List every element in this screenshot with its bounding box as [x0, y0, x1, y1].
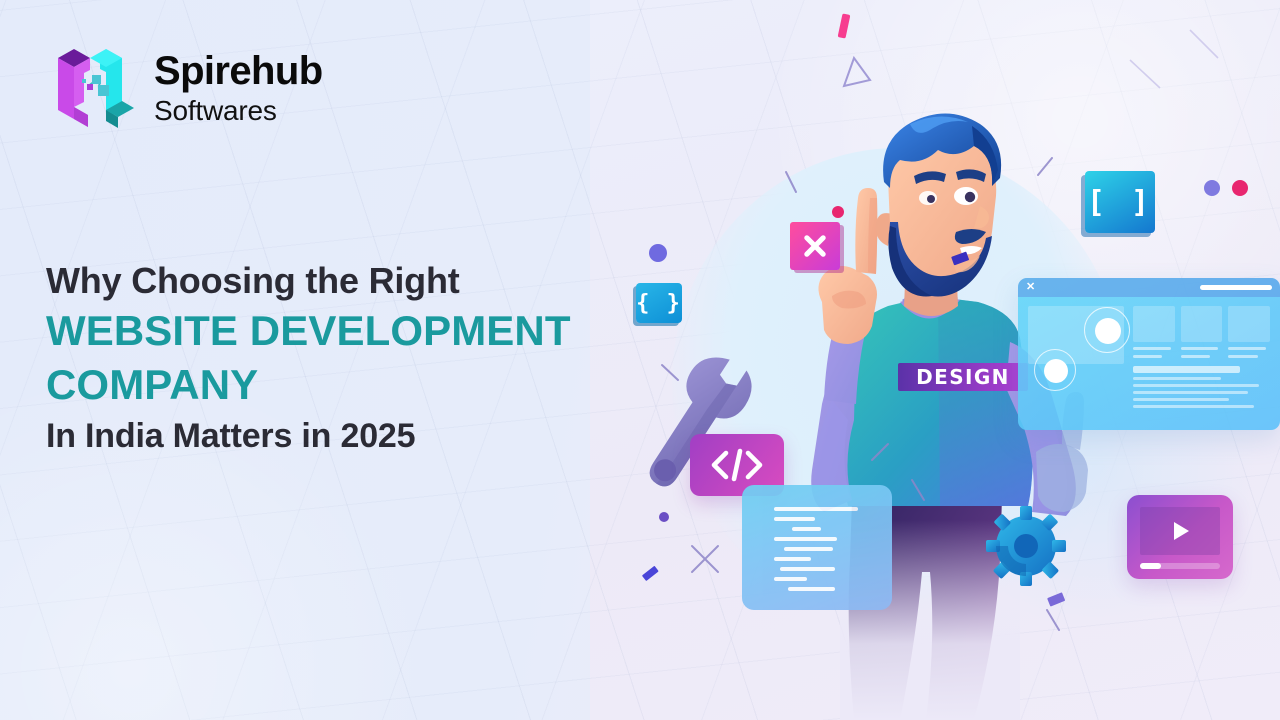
code-editor-card[interactable] — [742, 485, 892, 610]
brand-logo[interactable]: Spirehub Softwares — [44, 44, 323, 132]
poster-canvas: Spirehub Softwares Why Choosing the Righ… — [0, 0, 1280, 720]
close-x-button-icon[interactable] — [790, 222, 840, 270]
spirehub-bracket-logo-icon — [44, 44, 136, 132]
square-brackets-icon[interactable]: [ ] — [1085, 171, 1155, 233]
browser-card — [1133, 306, 1175, 342]
browser-content — [1018, 297, 1280, 430]
browser-window-mockup[interactable]: ✕ — [1018, 278, 1280, 430]
touch-indicator — [1034, 349, 1076, 391]
headline-line-3: COMPANY — [46, 358, 666, 412]
browser-title-bar: ✕ — [1018, 278, 1280, 297]
video-screen — [1140, 507, 1220, 555]
headline-line-2: WEBSITE DEVELOPMENT — [46, 304, 666, 358]
video-player-card[interactable] — [1127, 495, 1233, 579]
code-glyph — [708, 448, 766, 482]
curly-braces-icon[interactable]: { } — [636, 283, 682, 323]
browser-card — [1181, 306, 1223, 342]
brand-name: Spirehub — [154, 51, 323, 91]
touch-indicator — [1084, 307, 1130, 353]
browser-cards-column — [1133, 306, 1270, 421]
headline-line-4: In India Matters in 2025 — [46, 414, 666, 458]
svg-text:DESIGN: DESIGN — [916, 365, 1010, 389]
video-progress-bar[interactable] — [1140, 563, 1220, 569]
browser-close-icon[interactable]: ✕ — [1026, 282, 1035, 293]
headline-line-1: Why Choosing the Right — [46, 258, 666, 304]
browser-card-row — [1133, 306, 1270, 342]
browser-url-bar[interactable] — [1200, 285, 1272, 290]
browser-card — [1228, 306, 1270, 342]
brand-subtitle: Softwares — [154, 97, 323, 125]
hero-illustration: DESIGN — [600, 0, 1280, 720]
play-icon[interactable] — [1167, 518, 1193, 544]
headline-block: Why Choosing the Right WEBSITE DEVELOPME… — [46, 258, 666, 458]
x-glyph — [801, 232, 829, 260]
